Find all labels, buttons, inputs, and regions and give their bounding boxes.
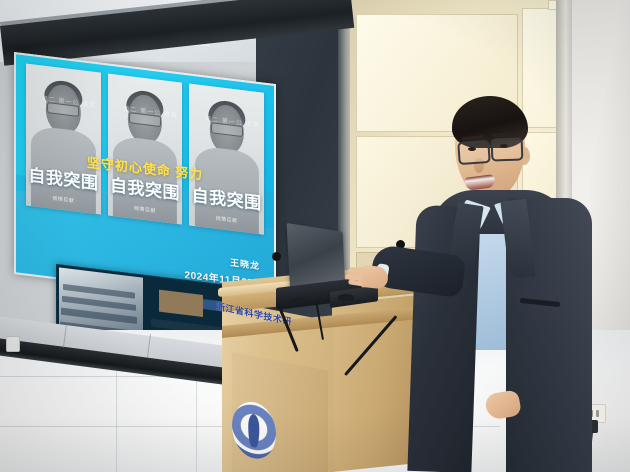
microphone-head	[272, 252, 281, 261]
slide-portrait-row: 第二 第一公 讲堂 自我突围 倾情巨献 第二 第一公 讲堂 自我突围 倾情巨献	[26, 63, 264, 234]
presentation-slide: 第二 第一公 讲堂 自我突围 倾情巨献 第二 第一公 讲堂 自我突围 倾情巨献	[16, 54, 274, 304]
speaker-eye-left	[468, 147, 476, 151]
speaker-eye-right	[500, 144, 508, 148]
glasses-lens-right-icon	[491, 137, 524, 161]
floor-outlet	[6, 336, 20, 352]
glasses-bridge-icon	[485, 145, 493, 147]
microphone-base	[338, 294, 354, 301]
slide-portrait-panel: 第二 第一公 讲堂 自我突围 倾情巨献	[26, 63, 101, 214]
projection-screen: 第二 第一公 讲堂 自我突围 倾情巨献 第二 第一公 讲堂 自我突围 倾情巨献	[14, 52, 276, 306]
presentation-photo: 第二 第一公 讲堂 自我突围 倾情巨献 第二 第一公 讲堂 自我突围 倾情巨献	[0, 0, 630, 472]
slide-portrait-panel: 第二 第一公 讲堂 自我突围 倾情巨献	[189, 84, 264, 235]
microphone-base	[290, 298, 306, 305]
slide-portrait-panel: 第二 第一公 讲堂 自我突围 倾情巨献	[108, 74, 183, 225]
glasses-lens-left-icon	[457, 140, 491, 165]
emblem-figure	[248, 413, 259, 448]
